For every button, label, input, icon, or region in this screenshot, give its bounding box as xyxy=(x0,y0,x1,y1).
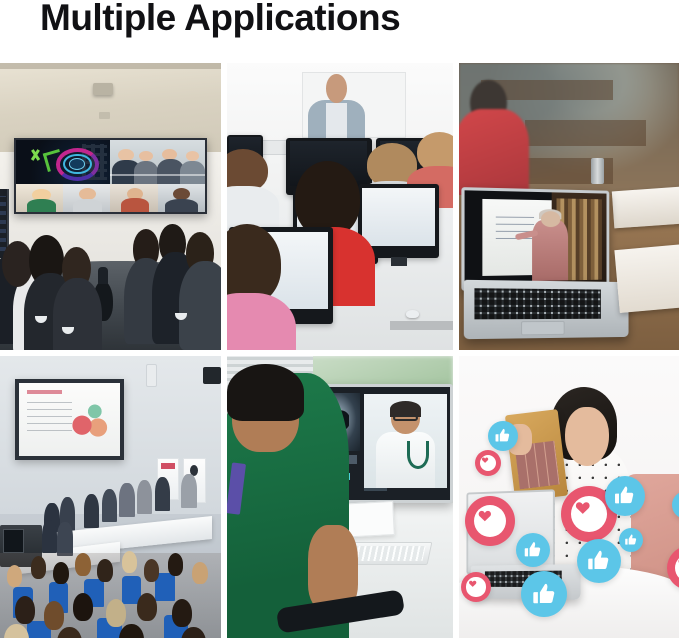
gallery-cell-telemedicine-consultation[interactable] xyxy=(227,356,453,638)
ceiling-sensor-icon xyxy=(99,112,110,119)
gallery-cell-conference-lecture-hall[interactable] xyxy=(0,356,221,638)
thumbs-up-icon xyxy=(488,421,518,451)
teacher-body xyxy=(533,221,569,282)
ceiling-speaker-icon xyxy=(146,364,157,387)
participant-tile-2 xyxy=(63,184,110,211)
analytics-dashboard-tile xyxy=(16,140,110,185)
projection-screen xyxy=(15,379,123,461)
classroom-scene xyxy=(227,63,453,350)
laptop-trackpad[interactable] xyxy=(521,321,564,335)
boardroom-scene xyxy=(0,63,221,350)
open-book xyxy=(612,187,679,229)
thumbs-up-icon xyxy=(605,476,645,516)
page-title: Multiple Applications xyxy=(40,0,400,40)
water-bottle xyxy=(591,158,604,184)
gallery-cell-corporate-video-conference[interactable] xyxy=(0,63,221,350)
ceiling-projector-icon xyxy=(203,367,221,384)
presenter-face xyxy=(565,407,609,466)
computer-mouse xyxy=(406,310,419,318)
participant-tile-3 xyxy=(110,184,157,211)
gallery-cell-remote-learning-library[interactable] xyxy=(459,63,679,350)
lecture-hall-scene xyxy=(0,356,221,638)
slide-graphic xyxy=(70,393,110,439)
live-streaming-scene xyxy=(459,356,679,638)
telehealth-scene xyxy=(227,356,453,638)
student xyxy=(227,149,268,224)
heart-icon xyxy=(461,572,491,602)
open-notebook xyxy=(615,244,679,313)
thumbs-up-icon xyxy=(516,533,550,567)
thumbs-up-icon xyxy=(577,539,621,583)
doctor-video-feed xyxy=(364,394,447,488)
laptop-screen xyxy=(462,187,610,291)
participant-tile-group xyxy=(110,140,204,185)
laptop-keyboard-base xyxy=(463,280,628,340)
library-scene xyxy=(459,63,679,350)
application-gallery-grid xyxy=(0,63,679,638)
instructor-head xyxy=(326,74,346,103)
participant-tile-4 xyxy=(158,184,205,211)
thumbs-up-icon xyxy=(619,528,643,552)
gallery-cell-live-stream-influencer[interactable] xyxy=(459,356,679,638)
heart-icon xyxy=(465,496,515,546)
glasses-icon xyxy=(393,415,418,422)
multiple-applications-page: Multiple Applications xyxy=(0,0,679,638)
video-wall-display xyxy=(14,138,206,214)
video-lecture-feed xyxy=(465,191,607,289)
gallery-cell-computer-classroom[interactable] xyxy=(227,63,453,350)
thumbs-up-icon xyxy=(521,571,567,617)
participant-tile-1 xyxy=(16,184,63,211)
ceiling-projector-icon xyxy=(93,83,113,94)
heart-icon xyxy=(475,450,501,476)
student-foreground xyxy=(227,224,281,350)
